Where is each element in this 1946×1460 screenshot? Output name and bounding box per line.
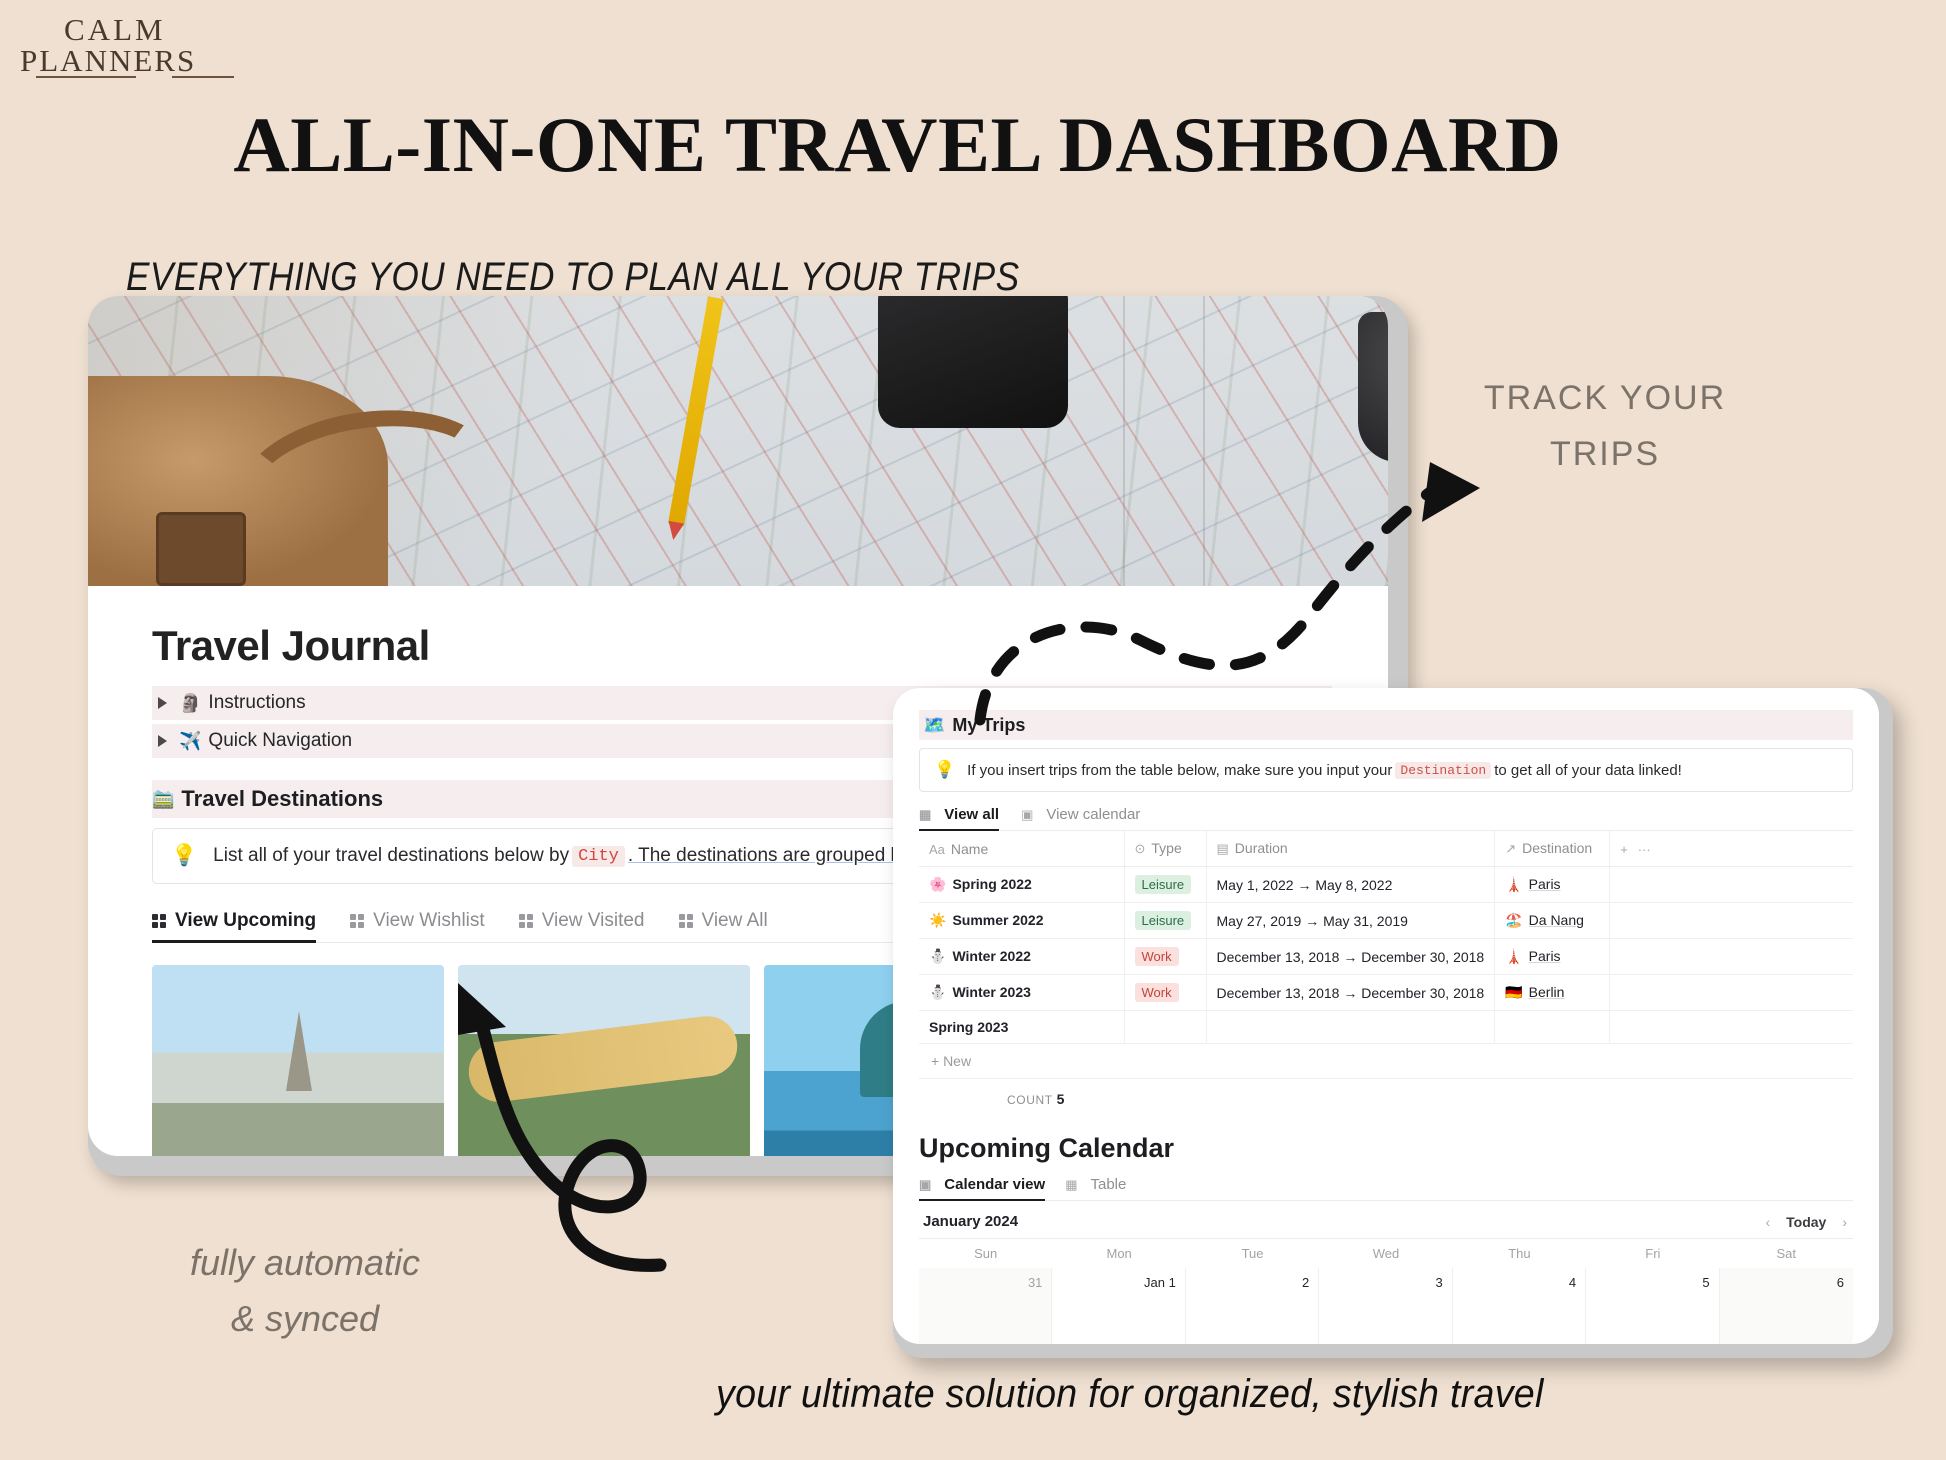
- calendar-day-name: Wed: [1319, 1239, 1452, 1268]
- count-value: 5: [1057, 1091, 1065, 1107]
- text-type-icon: Aa: [929, 842, 945, 857]
- column-header-name[interactable]: AaName: [919, 831, 1124, 867]
- cell-type[interactable]: [1124, 1011, 1206, 1044]
- date-type-icon: ▤: [1217, 841, 1229, 856]
- table-row[interactable]: ⛄Winter 2023 Work December 13, 2018 → De…: [919, 975, 1853, 1011]
- lightbulb-icon: 💡: [171, 844, 197, 868]
- cell-destination[interactable]: 🏖️Da Nang: [1495, 903, 1610, 939]
- calendar-cell[interactable]: 6: [1720, 1268, 1853, 1344]
- cell-empty: [1610, 867, 1853, 903]
- airplane-icon: ✈️: [179, 731, 201, 752]
- calendar-cell[interactable]: 2: [1186, 1268, 1319, 1344]
- cup-prop: [1358, 312, 1388, 462]
- track-your-trips-callout: TRACK YOUR TRIPS: [1470, 370, 1740, 482]
- table-icon: ▦: [1065, 1177, 1077, 1193]
- count-label: COUNT: [1007, 1093, 1053, 1107]
- calendar-day-name: Sun: [919, 1239, 1052, 1268]
- cell-destination[interactable]: 🗼Paris: [1495, 939, 1610, 975]
- toggle-instructions-label: Instructions: [208, 692, 305, 714]
- calendar-day-name: Thu: [1453, 1239, 1586, 1268]
- fully-automatic-callout: fully automatic & synced: [150, 1235, 460, 1347]
- calendar-icon: ▣: [1021, 807, 1033, 823]
- my-trips-view-tabs: ▦ View all ▣ View calendar: [919, 806, 1853, 831]
- cell-duration[interactable]: May 1, 2022 → May 8, 2022: [1206, 867, 1495, 903]
- brand-logo: CALM PLANNERS: [20, 14, 196, 76]
- page-title: ALL-IN-ONE TRAVEL DASHBOARD: [0, 100, 1795, 190]
- phone-prop: [878, 296, 1068, 428]
- plus-icon[interactable]: +: [1620, 842, 1628, 857]
- my-trips-screen: 🗺️ My Trips 💡 If you insert trips from t…: [893, 688, 1879, 1344]
- column-header-duration[interactable]: ▤Duration: [1206, 831, 1495, 867]
- table-row[interactable]: Spring 2023: [919, 1011, 1853, 1044]
- my-trips-callout-code-destination: Destination: [1395, 762, 1491, 779]
- column-header-destination-label: Destination: [1522, 840, 1592, 856]
- brand-underline-left: [36, 76, 136, 78]
- tablet-my-trips: 🗺️ My Trips 💡 If you insert trips from t…: [893, 688, 1893, 1358]
- chevron-right-icon[interactable]: ›: [1842, 1214, 1847, 1230]
- auto-callout-line-2: & synced: [150, 1291, 460, 1347]
- grid-view-icon: [679, 914, 693, 928]
- upcoming-calendar-title: Upcoming Calendar: [919, 1133, 1853, 1164]
- grid-view-icon: [350, 914, 364, 928]
- calendar-cell[interactable]: 5: [1586, 1268, 1719, 1344]
- tab-view-calendar-label: View calendar: [1046, 806, 1140, 823]
- calendar-day-name: Sat: [1720, 1239, 1853, 1268]
- status-badge: Work: [1135, 947, 1179, 966]
- cell-destination[interactable]: [1495, 1011, 1610, 1044]
- cell-duration[interactable]: [1206, 1011, 1495, 1044]
- page-subtitle: EVERYTHING YOU NEED TO PLAN ALL YOUR TRI…: [126, 255, 1020, 300]
- cell-name-label: Spring 2022: [952, 876, 1031, 892]
- toggle-quick-navigation-label: Quick Navigation: [208, 730, 352, 752]
- column-header-name-label: Name: [951, 841, 988, 857]
- auto-callout-line-1: fully automatic: [190, 1242, 420, 1283]
- train-icon: 🚞: [152, 789, 174, 810]
- status-badge: Work: [1135, 983, 1179, 1002]
- status-badge: Leisure: [1135, 875, 1192, 894]
- cell-empty: [1610, 903, 1853, 939]
- statue-icon: 🗿: [179, 693, 201, 714]
- brand-line-2: PLANNERS: [20, 45, 196, 76]
- tab-view-all[interactable]: View All: [679, 910, 768, 932]
- cell-destination-label[interactable]: Da Nang: [1529, 912, 1584, 928]
- cell-name[interactable]: ⛄Winter 2023: [919, 975, 1124, 1011]
- triangle-right-icon[interactable]: [158, 697, 167, 709]
- calendar-day-name: Mon: [1052, 1239, 1185, 1268]
- suitcase-prop: [156, 512, 246, 586]
- relation-type-icon: ↗: [1505, 841, 1516, 856]
- calendar-cell[interactable]: 31: [919, 1268, 1052, 1344]
- calendar-day-name: Tue: [1186, 1239, 1319, 1268]
- hero-map-image: [88, 296, 1388, 586]
- map-icon: 🗺️: [923, 715, 945, 736]
- status-badge: Leisure: [1135, 911, 1192, 930]
- table-icon: ▦: [919, 807, 931, 823]
- cell-name[interactable]: Spring 2023: [919, 1011, 1124, 1044]
- tab-calendar-view-label: Calendar view: [944, 1176, 1045, 1193]
- cell-empty: [1610, 975, 1853, 1011]
- cell-destination[interactable]: 🇩🇪Berlin: [1495, 975, 1610, 1011]
- cell-type[interactable]: Work: [1124, 939, 1206, 975]
- tab-view-visited-label: View Visited: [542, 910, 645, 932]
- travel-journal-title: Travel Journal: [152, 622, 1388, 670]
- tab-view-upcoming-label: View Upcoming: [175, 910, 316, 932]
- calendar-toolbar: January 2024 ‹ Today ›: [919, 1201, 1853, 1238]
- cell-name[interactable]: ⛄Winter 2022: [919, 939, 1124, 975]
- my-trips-label: My Trips: [952, 715, 1025, 736]
- trips-table-body: 🌸Spring 2022 Leisure May 1, 2022 → May 8…: [919, 867, 1853, 1044]
- calendar-cell[interactable]: 4: [1453, 1268, 1586, 1344]
- upcoming-calendar-tabs: ▣ Calendar view ▦ Table: [919, 1176, 1853, 1201]
- calendar-nav: ‹ Today ›: [1765, 1214, 1847, 1230]
- calendar-day-name: Fri: [1586, 1239, 1719, 1268]
- destination-card-paris[interactable]: [152, 965, 444, 1156]
- tab-view-all-label: View All: [702, 910, 768, 932]
- add-new-row-button[interactable]: + New: [919, 1044, 1853, 1079]
- destination-card-danang[interactable]: [458, 965, 750, 1156]
- cell-type[interactable]: Leisure: [1124, 867, 1206, 903]
- cell-name[interactable]: 🌸Spring 2022: [919, 867, 1124, 903]
- cell-name-label: Winter 2023: [952, 984, 1030, 1000]
- cell-name[interactable]: ☀️Summer 2022: [919, 903, 1124, 939]
- track-callout-line-1: TRACK YOUR: [1484, 379, 1726, 417]
- my-trips-callout-text-1: If you insert trips from the table below…: [967, 762, 1392, 779]
- select-type-icon: ⊙: [1135, 841, 1146, 856]
- tab-table-view[interactable]: ▦ Table: [1065, 1176, 1126, 1193]
- my-trips-callout-text-2: to get all of your data linked!: [1494, 762, 1682, 779]
- calendar-cell[interactable]: 3: [1319, 1268, 1452, 1344]
- cell-duration[interactable]: May 27, 2019 → May 31, 2019: [1206, 903, 1495, 939]
- column-header-duration-label: Duration: [1235, 840, 1288, 856]
- eiffel-tower-icon: 🗼: [1505, 876, 1522, 892]
- cell-empty: [1610, 939, 1853, 975]
- table-header-row: AaName ⊙Type ▤Duration ↗Destination +: [919, 831, 1853, 867]
- table-row[interactable]: ☀️Summer 2022 Leisure May 27, 2019 → May…: [919, 903, 1853, 939]
- more-options-icon[interactable]: ···: [1638, 842, 1651, 857]
- calendar-cell[interactable]: Jan 1: [1052, 1268, 1185, 1344]
- column-header-destination[interactable]: ↗Destination: [1495, 831, 1610, 867]
- column-header-type-label: Type: [1151, 840, 1181, 856]
- tab-view-wishlist[interactable]: View Wishlist: [350, 910, 485, 932]
- cell-type[interactable]: Leisure: [1124, 903, 1206, 939]
- tab-view-upcoming[interactable]: View Upcoming: [152, 910, 316, 932]
- callout-text-1: List all of your travel destinations bel…: [213, 845, 569, 867]
- track-callout-line-2: TRIPS: [1550, 435, 1660, 473]
- tab-calendar-view[interactable]: ▣ Calendar view: [919, 1176, 1045, 1193]
- pencil-prop: [668, 296, 724, 525]
- calendar-grid: Sun Mon Tue Wed Thu Fri Sat 31 Jan 1 2 3…: [919, 1238, 1853, 1344]
- cell-name-label: Winter 2022: [952, 948, 1030, 964]
- cell-duration[interactable]: December 13, 2018 → December 30, 2018: [1206, 975, 1495, 1011]
- brand-underline-right: [172, 76, 234, 78]
- tab-view-all-trips-label: View all: [944, 806, 999, 823]
- bottom-tagline: your ultimate solution for organized, st…: [716, 1372, 1544, 1417]
- snowman-icon: ⛄: [929, 948, 946, 964]
- grid-view-icon: [152, 914, 166, 928]
- calendar-month-label: January 2024: [923, 1213, 1018, 1230]
- trips-table-header: AaName ⊙Type ▤Duration ↗Destination +: [919, 831, 1853, 867]
- my-trips-body: 🗺️ My Trips 💡 If you insert trips from t…: [893, 688, 1879, 1344]
- cell-duration[interactable]: December 13, 2018 → December 30, 2018: [1206, 939, 1495, 975]
- lightbulb-icon: 💡: [934, 760, 955, 780]
- cell-destination-label[interactable]: Berlin: [1529, 984, 1565, 1000]
- grid-view-icon: [519, 914, 533, 928]
- brand-line-1: CALM: [64, 14, 196, 45]
- callout-text-2: . The destinations are grouped by: [628, 845, 911, 867]
- cell-destination-label[interactable]: Paris: [1529, 948, 1561, 964]
- column-header-actions[interactable]: + ···: [1610, 831, 1853, 867]
- tab-view-all-trips[interactable]: ▦ View all: [919, 806, 999, 823]
- travel-destinations-label: Travel Destinations: [181, 786, 383, 812]
- table-row[interactable]: 🌸Spring 2022 Leisure May 1, 2022 → May 8…: [919, 867, 1853, 903]
- germany-flag-icon: 🇩🇪: [1505, 984, 1522, 1000]
- tab-view-wishlist-label: View Wishlist: [373, 910, 485, 932]
- chevron-left-icon[interactable]: ‹: [1765, 1214, 1770, 1230]
- my-trips-callout: 💡 If you insert trips from the table bel…: [919, 748, 1853, 792]
- triangle-right-icon[interactable]: [158, 735, 167, 747]
- cell-empty: [1610, 1011, 1853, 1044]
- cell-destination[interactable]: 🗼Paris: [1495, 867, 1610, 903]
- beach-icon: 🏖️: [1505, 912, 1522, 928]
- trips-table: AaName ⊙Type ▤Duration ↗Destination +: [919, 831, 1853, 1044]
- cell-type[interactable]: Work: [1124, 975, 1206, 1011]
- callout-code-city: City: [572, 846, 625, 867]
- cell-destination-label[interactable]: Paris: [1529, 876, 1561, 892]
- my-trips-heading: 🗺️ My Trips: [919, 710, 1853, 740]
- row-count-summary: COUNT5: [919, 1079, 1853, 1107]
- tab-view-calendar[interactable]: ▣ View calendar: [1021, 806, 1140, 823]
- cell-name-label: Summer 2022: [952, 912, 1043, 928]
- sun-icon: ☀️: [929, 912, 946, 928]
- calendar-icon: ▣: [919, 1177, 931, 1193]
- tab-view-visited[interactable]: View Visited: [519, 910, 645, 932]
- today-button[interactable]: Today: [1786, 1214, 1826, 1230]
- eiffel-tower-icon: 🗼: [1505, 948, 1522, 964]
- column-header-type[interactable]: ⊙Type: [1124, 831, 1206, 867]
- table-row[interactable]: ⛄Winter 2022 Work December 13, 2018 → De…: [919, 939, 1853, 975]
- blossom-icon: 🌸: [929, 876, 946, 892]
- tab-table-view-label: Table: [1090, 1176, 1126, 1193]
- snowman-icon: ⛄: [929, 984, 946, 1000]
